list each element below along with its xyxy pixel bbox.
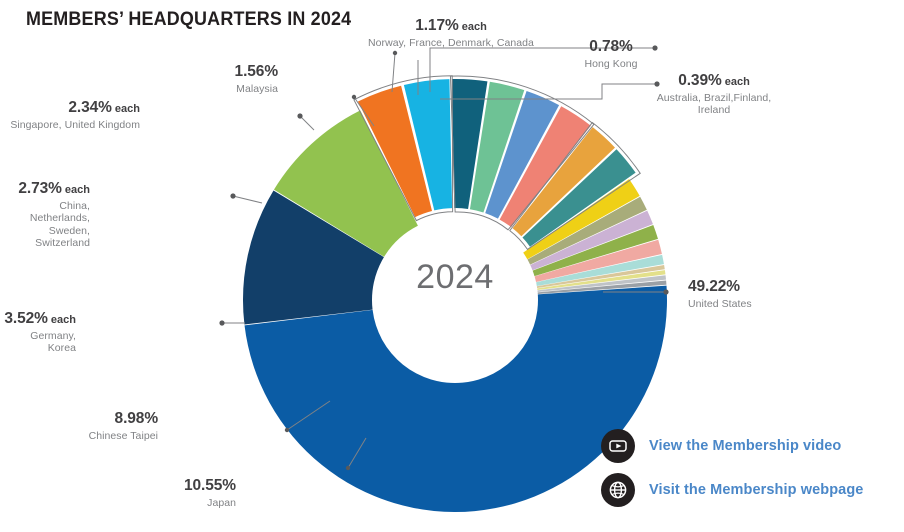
leader-dot	[393, 51, 397, 55]
leader-dot	[285, 428, 289, 432]
callout-names: Japan	[184, 497, 236, 509]
callout-names: China, Netherlands, Sweden, Switzerland	[0, 200, 90, 250]
leader-dot	[352, 95, 356, 99]
leader-dot	[230, 193, 235, 198]
callout-china-netherlands-sweden-switzerland: 2.73% eachChina, Netherlands, Sweden, Sw…	[0, 180, 90, 249]
callout-names: Malaysia	[235, 83, 278, 95]
callout-hong-kong: 0.78%Hong Kong	[451, 38, 771, 70]
infographic-page: MEMBERS’ HEADQUARTERS IN 2024 2024 49.22…	[0, 0, 904, 532]
callout-percent: 8.98%	[115, 410, 158, 427]
callout-each: each	[48, 314, 76, 326]
link-list: View the Membership video Visit the Memb…	[601, 424, 901, 512]
callout-names: Singapore, United Kingdom	[10, 119, 140, 131]
callout-singapore-united-kingdom: 2.34% eachSingapore, United Kingdom	[10, 99, 140, 131]
callout-percent: 2.34%	[68, 99, 111, 116]
callout-chinese-taipei: 8.98%Chinese Taipei	[89, 410, 158, 442]
callout-each: each	[62, 184, 90, 196]
callout-names: United States	[688, 298, 752, 310]
link-label: Visit the Membership webpage	[649, 482, 863, 498]
callout-each: each	[459, 21, 487, 33]
callout-each: each	[112, 103, 140, 115]
callout-each: each	[722, 76, 750, 88]
link-membership-video[interactable]: View the Membership video	[601, 424, 901, 468]
callout-names: Australia, Brazil,Finland, Ireland	[554, 92, 874, 117]
callout-percent: 2.73%	[18, 180, 61, 197]
callout-united-states: 49.22%United States	[688, 278, 752, 310]
play-circle-icon	[601, 429, 635, 463]
callout-percent: 49.22%	[688, 278, 740, 295]
leader-dot	[663, 289, 668, 294]
callout-percent: 0.78%	[589, 38, 632, 55]
leader-dot	[346, 466, 350, 470]
callout-australia-brazil-finland-ireland: 0.39% eachAustralia, Brazil,Finland, Ire…	[554, 72, 874, 117]
callout-malaysia: 1.56%Malaysia	[235, 63, 278, 95]
callout-germany-korea: 3.52% eachGermany, Korea	[0, 310, 76, 355]
link-label: View the Membership video	[649, 438, 841, 454]
callout-names: Hong Kong	[451, 58, 771, 70]
leader-line	[300, 116, 314, 130]
callout-percent: 1.17%	[415, 17, 458, 34]
callout-names: Chinese Taipei	[89, 430, 158, 442]
center-year-label: 2024	[360, 258, 550, 297]
leader-dot	[219, 320, 224, 325]
callout-names: Germany, Korea	[0, 330, 76, 355]
link-membership-webpage[interactable]: Visit the Membership webpage	[601, 468, 901, 512]
callout-percent: 10.55%	[184, 477, 236, 494]
leader-line	[233, 196, 262, 203]
callout-percent: 1.56%	[235, 63, 278, 80]
leader-line	[392, 53, 395, 92]
callout-percent: 3.52%	[4, 310, 47, 327]
callout-percent: 0.39%	[678, 72, 721, 89]
globe-icon	[601, 473, 635, 507]
callout-japan: 10.55%Japan	[184, 477, 236, 509]
leader-dot	[297, 113, 302, 118]
